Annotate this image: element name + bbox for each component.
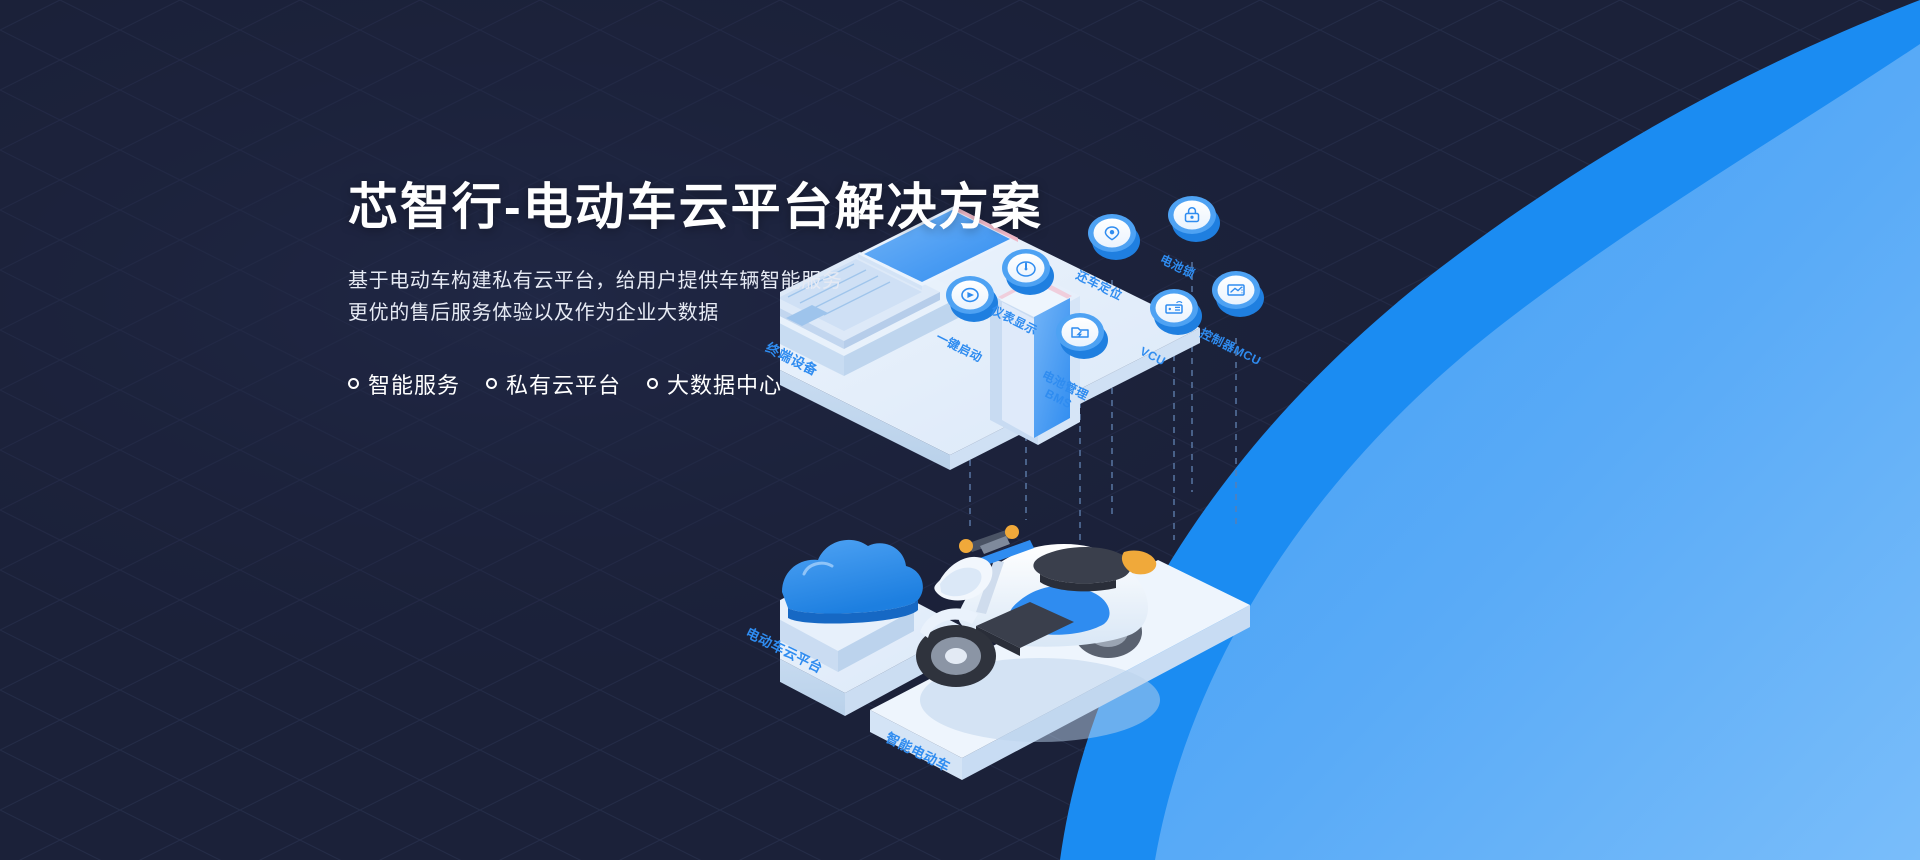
subtitle-line-2: 更优的售后服务体验以及作为企业大数据 [348,297,1108,329]
feature-item-smart-service[interactable]: 智能服务 [348,368,460,400]
label-cloud-platform: 电动车云平台 [750,625,834,642]
feature-label: 私有云平台 [506,368,621,400]
feature-item-private-cloud[interactable]: 私有云平台 [486,368,621,400]
hero-text-block: 芯智行-电动车云平台解决方案 基于电动车构建私有云平台，给用户提供车辆智能服务 … [348,180,1108,400]
badge-vcu[interactable] [1150,289,1202,335]
feature-item-big-data-center[interactable]: 大数据中心 [647,368,782,400]
label-vcu: VCU [1144,344,1171,359]
subtitle-block: 基于电动车构建私有云平台，给用户提供车辆智能服务 更优的售后服务体验以及作为企业… [348,265,1108,330]
label-battery-lock: 电池锁 [1164,252,1202,267]
label-smart-scooter: 智能电动车 [890,730,960,747]
page-title: 芯智行-电动车云平台解决方案 [348,180,1108,235]
badge-battery-lock[interactable] [1168,196,1220,242]
subtitle-line-1: 基于电动车构建私有云平台，给用户提供车辆智能服务 [348,265,1108,297]
circle-bullet-icon [486,378,497,389]
feature-list: 智能服务 私有云平台 大数据中心 [348,368,1108,400]
circle-bullet-icon [348,378,359,389]
label-controller-mcu: 控制器MCU [1204,326,1270,341]
banner-root: 芯智行-电动车云平台解决方案 基于电动车构建私有云平台，给用户提供车辆智能服务 … [0,0,1920,860]
badge-controller-mcu[interactable] [1212,271,1264,317]
circle-bullet-icon [647,378,658,389]
feature-label: 大数据中心 [667,368,782,400]
feature-label: 智能服务 [368,368,460,400]
